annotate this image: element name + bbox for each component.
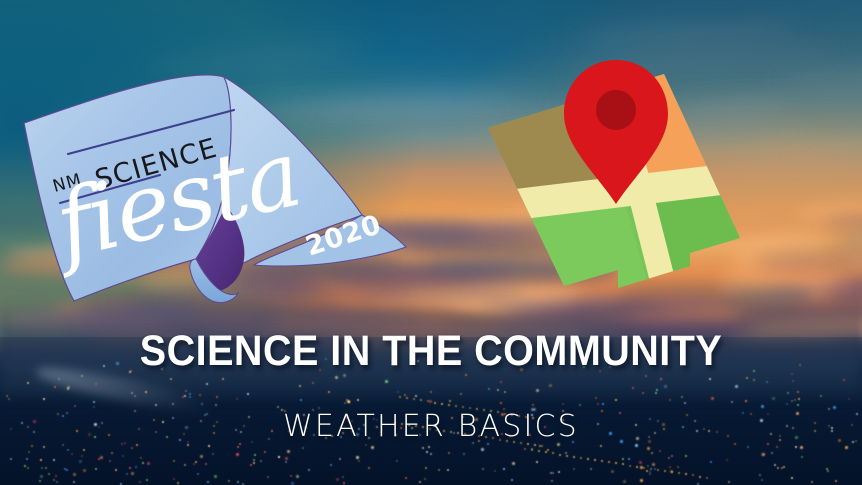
city-light: [83, 449, 85, 451]
city-light: [652, 463, 655, 466]
city-light: [40, 459, 42, 461]
city-light: [358, 460, 360, 462]
city-light: [212, 453, 214, 455]
city-light: [538, 450, 540, 452]
city-light: [40, 475, 43, 478]
city-light: [427, 400, 429, 402]
city-light: [109, 460, 111, 462]
page-subtitle: WEATHER BASICS: [0, 409, 862, 444]
city-light: [58, 378, 60, 380]
city-light: [26, 458, 28, 460]
city-light: [228, 480, 230, 482]
city-light: [79, 460, 82, 463]
city-light: [146, 479, 148, 481]
city-light: [710, 461, 712, 463]
city-light: [129, 467, 131, 469]
city-light: [115, 469, 117, 471]
city-light: [801, 456, 803, 458]
city-light: [93, 401, 95, 403]
city-light: [342, 476, 344, 478]
city-light: [140, 457, 142, 459]
city-light: [413, 398, 415, 400]
city-light: [500, 381, 502, 383]
city-light: [28, 451, 30, 453]
city-light: [463, 453, 465, 455]
city-light: [650, 468, 652, 470]
city-light: [308, 469, 310, 471]
city-light: [761, 479, 763, 481]
city-light: [684, 402, 686, 404]
city-light: [657, 469, 659, 471]
city-light: [594, 459, 596, 461]
city-light: [197, 473, 199, 475]
city-light: [699, 476, 701, 478]
city-light: [766, 381, 768, 383]
city-light: [302, 447, 304, 449]
city-light: [145, 391, 147, 393]
city-light: [344, 402, 346, 404]
city-light: [494, 470, 496, 472]
city-light: [685, 455, 687, 457]
city-light: [636, 466, 638, 468]
city-light: [260, 460, 262, 462]
city-light: [397, 391, 399, 393]
city-light: [399, 396, 401, 398]
city-light: [43, 446, 45, 448]
city-light: [668, 457, 670, 459]
city-light: [184, 395, 186, 397]
city-light: [600, 445, 602, 447]
city-light: [795, 446, 797, 448]
city-light: [406, 397, 408, 399]
city-light: [278, 456, 280, 458]
city-light: [420, 399, 422, 401]
city-light: [573, 468, 575, 470]
city-light: [330, 464, 332, 466]
city-light: [455, 405, 457, 407]
map-pin-hole: [596, 90, 636, 130]
city-light: [623, 480, 626, 483]
city-light: [629, 465, 631, 467]
city-light: [419, 481, 421, 483]
city-light: [685, 473, 687, 475]
city-light: [579, 404, 581, 406]
city-light: [787, 392, 789, 394]
city-light: [772, 397, 775, 400]
city-light: [253, 462, 255, 464]
city-light: [791, 477, 793, 479]
city-light: [250, 464, 252, 466]
city-light: [343, 482, 345, 484]
city-light: [797, 404, 799, 406]
city-light: [300, 399, 302, 401]
city-light: [835, 480, 837, 482]
city-light: [845, 446, 848, 449]
city-light: [285, 461, 287, 463]
city-light: [664, 470, 666, 472]
city-light: [93, 406, 95, 408]
city-light: [671, 471, 673, 473]
city-light: [290, 475, 292, 477]
city-light: [64, 468, 66, 470]
city-light: [843, 379, 845, 381]
city-light: [214, 475, 217, 478]
city-light: [848, 398, 850, 400]
city-light: [428, 446, 430, 448]
city-light: [285, 457, 288, 460]
city-light: [761, 453, 764, 456]
city-light: [81, 455, 83, 457]
city-light: [67, 386, 70, 389]
city-light: [783, 466, 785, 468]
city-light: [404, 394, 406, 396]
city-light: [827, 470, 829, 472]
city-light: [53, 479, 55, 481]
city-light: [405, 477, 407, 479]
city-light: [371, 446, 374, 449]
city-light: [111, 452, 113, 454]
city-light: [681, 396, 683, 398]
city-light: [441, 403, 443, 405]
city-light: [541, 445, 543, 447]
map-illustration: [468, 48, 788, 298]
city-light: [335, 376, 338, 379]
city-light: [41, 467, 43, 469]
city-light: [797, 391, 799, 393]
city-light: [71, 453, 73, 455]
city-light: [67, 449, 69, 451]
city-light: [56, 481, 58, 483]
city-light: [237, 446, 239, 448]
city-light: [425, 467, 427, 469]
city-light: [566, 455, 568, 457]
city-light: [735, 385, 738, 388]
city-light: [759, 474, 761, 476]
city-light: [562, 403, 564, 405]
city-light: [206, 383, 208, 385]
city-light: [173, 460, 175, 462]
city-light: [95, 468, 97, 470]
city-light: [336, 478, 339, 481]
city-light: [73, 481, 75, 483]
city-light: [811, 481, 813, 483]
city-light: [448, 404, 450, 406]
city-light: [134, 395, 136, 397]
city-light: [573, 456, 575, 458]
city-light: [536, 389, 539, 392]
city-light: [460, 393, 462, 395]
city-light: [615, 399, 617, 401]
nm-science-fiesta-logo: NM SCIENCE fiesta 2020: [10, 55, 430, 310]
city-light: [753, 379, 755, 381]
city-light: [448, 452, 450, 454]
city-light: [551, 480, 553, 482]
city-light: [745, 400, 747, 402]
city-light: [142, 462, 144, 464]
city-light: [264, 451, 266, 453]
city-light: [447, 469, 449, 471]
city-light: [643, 467, 645, 469]
city-light: [73, 473, 76, 476]
city-light: [422, 447, 424, 449]
city-light: [536, 461, 538, 463]
city-light: [677, 466, 679, 468]
city-light: [200, 455, 203, 458]
city-light: [647, 447, 650, 450]
city-light: [776, 446, 778, 448]
city-light: [199, 394, 201, 396]
city-light: [287, 450, 290, 453]
city-light: [236, 453, 239, 456]
city-light: [726, 459, 728, 461]
city-light: [131, 472, 134, 475]
city-light: [692, 474, 694, 476]
city-light: [628, 458, 630, 460]
city-light: [615, 462, 617, 464]
city-light: [185, 390, 187, 392]
city-light: [512, 462, 515, 465]
city-light: [277, 406, 279, 408]
city-light: [267, 476, 269, 478]
city-light: [711, 397, 714, 400]
city-light: [182, 396, 184, 398]
city-light: [497, 389, 499, 391]
city-light: [552, 472, 554, 474]
city-light: [39, 480, 41, 482]
city-light: [434, 402, 436, 404]
city-light: [438, 469, 440, 471]
city-light: [415, 395, 417, 397]
city-light: [632, 387, 634, 389]
city-light: [195, 461, 197, 463]
city-light: [357, 399, 359, 401]
city-light: [792, 380, 794, 382]
city-light: [545, 451, 547, 453]
city-light: [53, 459, 55, 461]
city-light: [601, 460, 603, 462]
city-light: [820, 395, 822, 397]
city-light: [798, 398, 800, 400]
city-light: [396, 460, 398, 462]
city-light: [587, 458, 589, 460]
city-light: [647, 465, 649, 467]
city-light: [187, 444, 189, 446]
city-light: [597, 403, 599, 405]
city-light: [590, 468, 592, 470]
city-light: [791, 400, 793, 402]
city-light: [430, 453, 432, 455]
city-light: [462, 406, 464, 408]
city-light: [356, 456, 359, 459]
city-light: [654, 468, 656, 470]
city-light: [761, 405, 764, 408]
city-light: [62, 444, 64, 446]
city-light: [660, 378, 662, 380]
city-light: [296, 475, 299, 478]
city-light: [552, 452, 554, 454]
city-light: [426, 451, 428, 453]
city-light: [222, 378, 224, 380]
city-light: [622, 458, 624, 460]
city-light: [365, 444, 367, 446]
city-light: [728, 481, 730, 483]
city-light: [122, 455, 124, 457]
city-light: [774, 464, 776, 466]
city-light: [602, 403, 604, 405]
city-light: [27, 467, 29, 469]
city-light: [131, 447, 133, 449]
city-light: [786, 403, 788, 405]
city-light: [74, 405, 76, 407]
city-light: [777, 467, 779, 469]
city-light: [664, 385, 667, 388]
city-light: [55, 475, 57, 477]
city-light: [236, 398, 238, 400]
city-light: [54, 386, 56, 388]
city-light: [642, 392, 644, 394]
city-light: [95, 383, 97, 385]
city-light: [746, 377, 748, 379]
city-light: [481, 448, 484, 451]
city-light: [511, 479, 513, 481]
city-light: [531, 449, 533, 451]
city-light: [678, 472, 680, 474]
city-light: [646, 470, 648, 472]
city-light: [524, 448, 526, 450]
city-light: [559, 454, 561, 456]
city-light: [549, 384, 552, 387]
city-light: [193, 463, 195, 465]
city-light: [608, 461, 610, 463]
city-light: [348, 401, 350, 403]
city-light: [83, 469, 86, 472]
city-light: [66, 469, 68, 471]
city-light: [126, 473, 128, 475]
city-light: [655, 392, 657, 394]
city-light: [201, 403, 203, 405]
city-light: [709, 378, 711, 380]
city-light: [368, 467, 370, 469]
city-light: [189, 396, 191, 398]
city-light: [731, 401, 733, 403]
city-light: [139, 481, 141, 483]
city-light: [580, 457, 582, 459]
city-light: [299, 385, 301, 387]
city-light: [254, 454, 256, 456]
city-light: [100, 456, 103, 459]
page-title: SCIENCE IN THE COMMUNITY: [34, 327, 827, 376]
slide-canvas: NM SCIENCE fiesta 2020: [0, 0, 862, 485]
city-light: [184, 464, 186, 466]
city-light: [771, 452, 773, 454]
city-light: [656, 389, 658, 391]
city-light: [216, 396, 218, 398]
city-light: [430, 391, 432, 393]
city-light: [649, 473, 651, 475]
city-light: [207, 481, 209, 483]
city-light: [800, 446, 803, 449]
city-light: [651, 452, 653, 454]
city-light: [424, 478, 426, 480]
city-light: [135, 466, 137, 468]
city-light: [339, 458, 341, 460]
city-light: [547, 449, 549, 451]
city-light: [43, 398, 45, 400]
city-light: [136, 444, 138, 446]
city-light: [328, 391, 330, 393]
city-light: [253, 459, 255, 461]
city-light: [27, 382, 29, 384]
city-light: [155, 404, 157, 406]
city-light: [747, 446, 749, 448]
city-light: [706, 477, 708, 479]
city-light: [503, 468, 505, 470]
city-light: [669, 466, 671, 468]
city-light: [205, 463, 207, 465]
city-light: [177, 482, 179, 484]
city-light: [31, 445, 33, 447]
city-light: [449, 400, 451, 402]
city-light: [500, 402, 502, 404]
city-light: [215, 404, 217, 406]
city-light: [558, 471, 560, 473]
city-light: [622, 463, 624, 465]
city-light: [385, 380, 388, 383]
city-light: [10, 458, 12, 460]
city-light: [170, 378, 172, 380]
city-light: [8, 398, 10, 400]
city-light: [189, 393, 191, 395]
city-light: [147, 462, 150, 465]
city-light: [482, 468, 484, 470]
city-light: [24, 465, 26, 467]
city-light: [794, 399, 796, 401]
city-light: [565, 452, 567, 454]
city-light: [669, 399, 671, 401]
city-light: [639, 461, 642, 464]
city-light: [534, 444, 536, 446]
city-light: [595, 397, 597, 399]
city-light: [671, 455, 673, 457]
city-light: [247, 393, 249, 395]
city-light: [532, 404, 534, 406]
city-light: [237, 481, 239, 483]
city-light: [429, 400, 432, 403]
city-light: [312, 382, 314, 384]
city-light: [172, 403, 174, 405]
city-light: [131, 392, 133, 394]
city-light: [504, 391, 506, 393]
city-light: [635, 444, 638, 447]
city-light: [6, 395, 8, 397]
city-light: [48, 473, 50, 475]
city-light: [45, 467, 47, 469]
city-light: [208, 445, 210, 447]
city-light: [488, 388, 490, 390]
city-light: [173, 478, 175, 480]
city-light: [611, 470, 614, 473]
city-light: [640, 479, 643, 482]
city-light: [659, 450, 661, 452]
